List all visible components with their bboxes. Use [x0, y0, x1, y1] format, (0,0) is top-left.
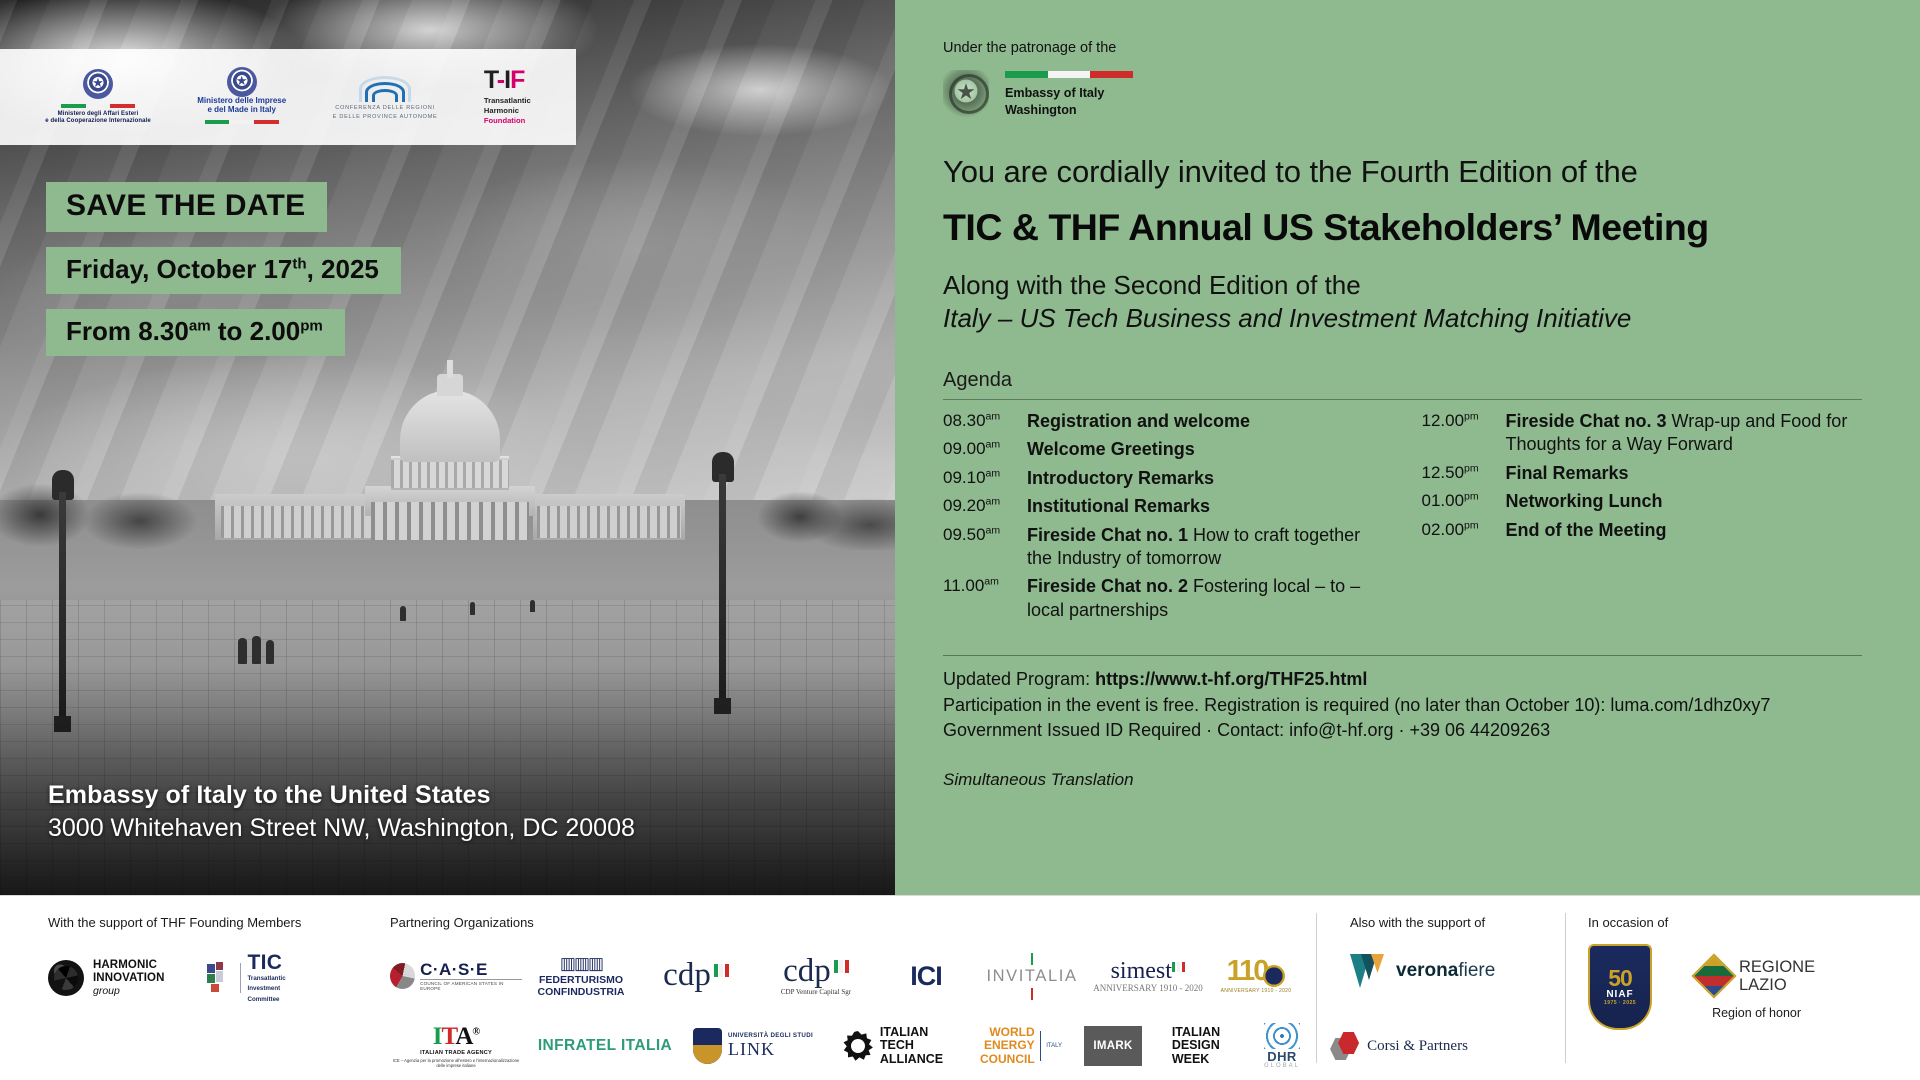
agenda-row: 09.00amWelcome Greetings [943, 438, 1384, 461]
italian-republic-emblem-icon [83, 69, 113, 99]
italian-flag-icon [1005, 71, 1133, 78]
agenda-time: 11.00am [943, 575, 1027, 622]
logo-label: 1975 · 2025 [1604, 1000, 1636, 1006]
logo-label: ALLIANCE [880, 1053, 943, 1067]
tic-mark-icon [207, 962, 233, 994]
region-of-honor-label: Region of honor [1698, 1006, 1815, 1020]
footer-divider [0, 895, 1920, 896]
agenda-item: Fireside Chat no. 3 Wrap-up and Food for… [1506, 410, 1863, 457]
agenda-item: Introductory Remarks [1027, 467, 1214, 490]
also-support-label: Also with the support of [1350, 915, 1580, 930]
agenda-item: Welcome Greetings [1027, 438, 1195, 461]
dot-cluster-icon [1264, 1023, 1300, 1049]
agenda-divider [943, 399, 1862, 400]
logo-label: GLOBAL [1264, 1063, 1300, 1069]
logo-label: LINK [728, 1040, 813, 1059]
agenda-row: 01.00pmNetworking Lunch [1422, 490, 1863, 513]
agenda-row: 09.10amIntroductory Remarks [943, 467, 1384, 490]
agenda-time: 12.00pm [1422, 410, 1506, 457]
logo-label: e del Made in Italy [207, 106, 275, 115]
logo-ita-italian-trade-agency: ITA® ITALIAN TRADE AGENCY ICE – Agenzia … [390, 1018, 522, 1074]
logo-corsi-partners: Corsi & Partners [1324, 1018, 1474, 1074]
logo-label: CDP Venture Capital Sgr [781, 988, 851, 996]
chevron-mark-icon [1350, 954, 1388, 988]
agenda-column-left: 08.30amRegistration and welcome09.00amWe… [943, 410, 1384, 627]
invitation-intro: You are cordially invited to the Fourth … [943, 154, 1862, 190]
logo-label: CONFINDUSTRIA [538, 986, 625, 998]
logo-label: C·A·S·E [420, 961, 522, 980]
logo-cdp: cdp [640, 948, 752, 1004]
logo-label: Transatlantic [484, 96, 531, 106]
eagle-icon [390, 963, 415, 989]
logo-label: TECH [880, 1039, 943, 1053]
agenda-item-title: Introductory Remarks [1027, 468, 1214, 488]
lazio-emblem-icon [1691, 954, 1736, 999]
founding-members-section: With the support of THF Founding Members… [48, 915, 378, 1004]
agenda-row: 02.00pmEnd of the Meeting [1422, 519, 1863, 542]
updated-program-line: Updated Program: https://www.t-hf.org/TH… [943, 667, 1862, 693]
agenda-time: 09.10am [943, 467, 1027, 490]
italian-flag-icon [205, 120, 279, 124]
logo-federturismo-confindustria: ▥▥▥ FEDERTURISMO CONFINDUSTRIA [522, 948, 640, 1004]
logo-label: Corsi & Partners [1367, 1038, 1468, 1055]
agenda-item-title: Networking Lunch [1506, 491, 1663, 511]
pedestrian [252, 636, 261, 664]
agenda-item-title: Fireside Chat no. 1 [1027, 525, 1188, 545]
logo-label: COUNCIL [980, 1053, 1035, 1066]
agenda-time: 01.00pm [1422, 490, 1506, 513]
pedestrian [530, 600, 535, 612]
logo-label: ITA® [390, 1024, 522, 1049]
gear-icon [843, 1031, 873, 1061]
pedestrian [400, 606, 406, 621]
agenda-row: 09.50amFireside Chat no. 1 How to craft … [943, 524, 1384, 571]
agenda-item-title: Final Remarks [1506, 463, 1629, 483]
shield-icon [693, 1028, 722, 1064]
logo-label: e della Cooperazione Internazionale [45, 118, 151, 125]
agenda-time: 09.50am [943, 524, 1027, 571]
logo-label: REGIONE [1739, 958, 1815, 976]
partner-row-2: ITA® ITALIAN TRADE AGENCY ICE – Agenzia … [390, 1018, 1290, 1074]
agenda-item: Fireside Chat no. 2 Fostering local – to… [1027, 575, 1384, 622]
agenda-item: Registration and welcome [1027, 410, 1250, 433]
logo-label: FEDERTURISMO [538, 974, 625, 986]
capitol-photo: Ministero degli Affari Esteri e della Co… [0, 0, 895, 895]
invitation-page: Ministero degli Affari Esteri e della Co… [0, 0, 1920, 1080]
agenda-item-title: Fireside Chat no. 3 [1506, 411, 1667, 431]
logo-label: ICI [910, 961, 942, 992]
logo-label: Committee [248, 996, 286, 1004]
logo-label: 50 [1608, 968, 1632, 989]
agenda-time: 08.30am [943, 410, 1027, 433]
logo-regione-lazio: REGIONE LAZIO Region of honor [1698, 958, 1815, 1020]
logo-label: ITALIAN [1172, 1026, 1220, 1039]
agenda-column-right: 12.00pmFireside Chat no. 3 Wrap-up and F… [1422, 410, 1863, 627]
participation-line: Participation in the event is free. Regi… [943, 693, 1862, 719]
logo-label: ITALIAN TRADE AGENCY [390, 1051, 522, 1057]
logo-invitalia: INVITALIA [972, 948, 1092, 1004]
logo-label: COUNCIL OF AMERICAN STATES IN EUROPE [420, 979, 522, 991]
logo-label: INVITALIA [986, 967, 1077, 986]
agenda-item: Institutional Remarks [1027, 495, 1210, 518]
info-divider [943, 655, 1862, 656]
logo-label: Transatlantic [248, 975, 286, 983]
logo-italian-tech-alliance: ITALIAN TECH ALLIANCE [818, 1018, 968, 1074]
embassy-name-line2: Washington [1005, 102, 1133, 119]
logo-label: DHR [1264, 1050, 1300, 1063]
agenda-item: Final Remarks [1506, 462, 1629, 485]
agenda-item-title: Registration and welcome [1027, 411, 1250, 431]
agenda-row: 09.20amInstitutional Remarks [943, 495, 1384, 518]
agenda-heading: Agenda [943, 369, 1862, 392]
logo-label: Harmonic [484, 106, 531, 116]
logo-ministero-affari-esteri: Ministero degli Affari Esteri e della Co… [45, 69, 151, 124]
italian-republic-emblem-icon [943, 70, 989, 120]
agenda-row: 12.50pmFinal Remarks [1422, 462, 1863, 485]
agenda-item-title: Fireside Chat no. 2 [1027, 576, 1188, 596]
partnering-organizations-label: Partnering Organizations [390, 915, 1290, 930]
logo-label: group [93, 986, 165, 997]
partnering-organizations-section: Partnering Organizations C·A·S·E COUNCIL… [390, 915, 1290, 1074]
logo-label: E DELLE PROVINCE AUTONOME [333, 114, 438, 120]
logo-label: cdp [783, 956, 831, 987]
logo-label: cdp [663, 960, 711, 991]
italian-flag-icon [61, 104, 135, 108]
agenda-item-title: Institutional Remarks [1027, 496, 1210, 516]
founding-members-label: With the support of THF Founding Members [48, 915, 378, 930]
agenda-time: 02.00pm [1422, 519, 1506, 542]
agenda-time: 09.00am [943, 438, 1027, 461]
agenda-columns: 08.30amRegistration and welcome09.00amWe… [943, 410, 1862, 627]
logo-label: veronafiere [1396, 960, 1495, 982]
embassy-patron-block: Embassy of Italy Washington [943, 70, 1862, 120]
occasion-label: In occasion of [1588, 915, 1918, 930]
logo-anniversary-110: 110 ANNIVERSARY 1910 - 2020 [1204, 948, 1308, 1004]
logo-ici: ICI [880, 948, 972, 1004]
pedestrian [470, 602, 475, 615]
logo-harmonic-innovation-group: HARMONIC INNOVATION group [48, 959, 165, 996]
logo-label: INFRATEL ITALIA [538, 1037, 672, 1055]
logo-infratel-italia: INFRATEL ITALIA [522, 1018, 688, 1074]
agenda-item: End of the Meeting [1506, 519, 1667, 542]
italian-flag-icon [1172, 962, 1186, 972]
logo-label: LAZIO [1739, 976, 1815, 994]
program-url[interactable]: https://www.t-hf.org/THF25.html [1095, 669, 1367, 689]
logo-label: ITALY [1046, 1043, 1062, 1049]
logo-thf: T-IF Transatlantic Harmonic Foundation [484, 68, 531, 126]
italian-flag-icon [714, 964, 729, 977]
occasion-section: In occasion of 50 NIAF 1975 · 2025 REGIO… [1588, 915, 1918, 1030]
logo-label: Ministero degli Affari Esteri [58, 111, 139, 118]
logo-label: Investment [248, 985, 286, 993]
logo-label: ICE – Agenzia per la promozione all'este… [390, 1058, 522, 1069]
italian-republic-emblem-icon [227, 67, 257, 97]
institutional-logo-strip: Ministero degli Affari Esteri e della Co… [0, 49, 576, 145]
subtitle-line2: Italy – US Tech Business and Investment … [943, 303, 1862, 334]
contact-line: Government Issued ID Required · Contact:… [943, 718, 1862, 744]
venue-street: 3000 Whitehaven Street NW, Washington, D… [48, 814, 635, 843]
cube-icon [48, 960, 84, 996]
flag-bar-icon [1031, 953, 1034, 965]
venue-address: Embassy of Italy to the United States 30… [48, 781, 635, 843]
logo-universita-link: UNIVERSITÀ DEGLI STUDI LINK [688, 1018, 818, 1074]
agenda-item-title: Welcome Greetings [1027, 439, 1195, 459]
patronage-label: Under the patronage of the [943, 40, 1862, 56]
divider [240, 963, 241, 993]
crown-icon: ▥▥▥ [538, 954, 625, 974]
seal-icon [1263, 965, 1285, 987]
logo-label: Foundation [484, 116, 531, 126]
agenda-item: Networking Lunch [1506, 490, 1663, 513]
sponsor-footer: With the support of THF Founding Members… [0, 895, 1920, 1080]
agenda-time: 12.50pm [1422, 462, 1506, 485]
logo-cdp-venture-capital: cdp CDP Venture Capital Sgr [752, 948, 880, 1004]
logo-label: WEEK [1172, 1053, 1220, 1066]
agenda-row: 08.30amRegistration and welcome [943, 410, 1384, 433]
logo-tic: TIC Transatlantic Investment Committee [207, 952, 286, 1004]
pedestrian [238, 638, 247, 664]
logo-label: ITALIAN [880, 1026, 943, 1040]
logo-label: ANNIVERSARY 1910 - 2020 [1221, 988, 1292, 994]
hexagon-icon [1330, 1032, 1360, 1060]
logo-label: TIC [248, 952, 286, 973]
embassy-name-line1: Embassy of Italy [1005, 85, 1133, 102]
invitation-panel: Under the patronage of the Embassy of It… [895, 0, 1920, 895]
logo-world-energy-council: WORLD ENERGY COUNCIL ITALY [968, 1018, 1074, 1074]
logo-simest: simest ANNIVERSARY 1910 - 2020 [1092, 948, 1204, 1004]
agenda-row: 12.00pmFireside Chat no. 3 Wrap-up and F… [1422, 410, 1863, 457]
page-title: TIC & THF Annual US Stakeholders’ Meetin… [943, 206, 1862, 249]
save-the-date-label: SAVE THE DATE [46, 182, 327, 232]
us-capitol-building [215, 360, 685, 540]
logo-dhr-global: DHR GLOBAL [1240, 1018, 1324, 1074]
logo-conferenza-regioni: CONFERENZA DELLE REGIONI E DELLE PROVINC… [333, 74, 438, 121]
logo-label: IMARK [1084, 1026, 1142, 1066]
logo-label: 110 [1227, 955, 1268, 987]
save-the-date-bands: SAVE THE DATE Friday, October 17th, 2025… [46, 182, 401, 371]
agenda-item-title: End of the Meeting [1506, 520, 1667, 540]
event-time-label: From 8.30am to 2.00pm [46, 309, 345, 356]
logo-ministero-imprese: Ministero delle Imprese e del Made in It… [197, 67, 286, 127]
logo-label: CONFERENZA DELLE REGIONI [335, 105, 434, 111]
italian-flag-icon [834, 960, 849, 973]
logo-label: NIAF [1606, 989, 1633, 1000]
logo-italian-design-week: ITALIAN DESIGN WEEK [1152, 1018, 1240, 1074]
logo-case: C·A·S·E COUNCIL OF AMERICAN STATES IN EU… [390, 948, 522, 1004]
logo-label: ANNIVERSARY 1910 - 2020 [1093, 983, 1202, 993]
divider [1040, 1031, 1042, 1061]
agenda-row: 11.00amFireside Chat no. 2 Fostering loc… [943, 575, 1384, 622]
event-info-block: Updated Program: https://www.t-hf.org/TH… [943, 667, 1862, 744]
flag-bar-icon [1031, 988, 1034, 1000]
subtitle-line1: Along with the Second Edition of the [943, 270, 1862, 301]
agenda-time: 09.20am [943, 495, 1027, 518]
logo-label: DESIGN [1172, 1039, 1220, 1052]
logo-label: simest [1111, 958, 1172, 984]
agenda-item: Fireside Chat no. 1 How to craft togethe… [1027, 524, 1384, 571]
partner-row-1: C·A·S·E COUNCIL OF AMERICAN STATES IN EU… [390, 948, 1290, 1004]
logo-label: INNOVATION [93, 972, 165, 984]
photo-gradient-overlay [0, 665, 895, 895]
logo-niaf-50: 50 NIAF 1975 · 2025 [1588, 944, 1652, 1030]
logo-label: HARMONIC [93, 959, 165, 971]
thf-monogram-icon: T-IF [484, 68, 524, 93]
venue-name: Embassy of Italy to the United States [48, 781, 635, 810]
also-support-section: Also with the support of veronafiere [1350, 915, 1580, 988]
logo-imark: IMARK [1074, 1018, 1152, 1074]
simultaneous-translation-note: Simultaneous Translation [943, 770, 1862, 790]
logo-label: ENERGY [980, 1039, 1035, 1052]
arches-icon [357, 74, 413, 102]
logo-veronafiere: veronafiere [1350, 954, 1580, 988]
event-date-label: Friday, October 17th, 2025 [46, 247, 401, 294]
pedestrian [266, 640, 274, 664]
